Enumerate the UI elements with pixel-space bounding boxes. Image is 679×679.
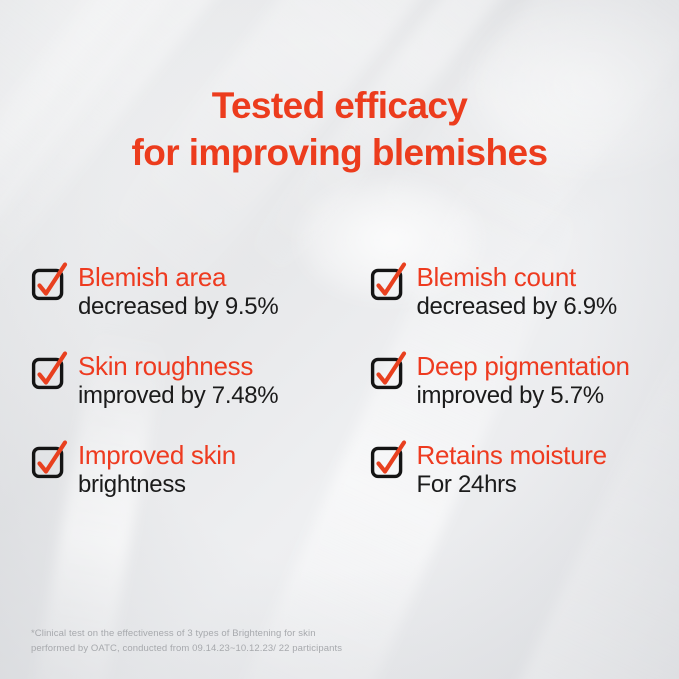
benefit-subtitle: For 24hrs: [417, 471, 517, 498]
benefits-row: Blemish area decreased by 9.5% Blemish c…: [0, 262, 679, 322]
checkmark-icon: [31, 356, 65, 390]
page-title-line-2: for improving blemishes: [0, 129, 679, 176]
benefit-item-skin-roughness: Skin roughness improved by 7.48%: [0, 351, 340, 411]
benefit-text: Skin roughness improved by 7.48%: [78, 351, 340, 411]
benefit-subtitle: improved by 7.48%: [78, 382, 278, 409]
benefit-subtitle: brightness: [78, 471, 186, 498]
benefit-item-blemish-count: Blemish count decreased by 6.9%: [340, 262, 679, 322]
benefit-text: Blemish count decreased by 6.9%: [417, 262, 679, 322]
efficacy-infographic: Tested efficacy for improving blemishes …: [0, 0, 679, 679]
clinical-test-footnote: *Clinical test on the effectiveness of 3…: [31, 626, 342, 656]
benefits-grid: Blemish area decreased by 9.5% Blemish c…: [0, 262, 679, 529]
checkmark-icon: [370, 445, 404, 479]
footnote-line-2: performed by OATC, conducted from 09.14.…: [31, 641, 342, 656]
benefit-title: Blemish count: [417, 262, 576, 292]
page-title: Tested efficacy for improving blemishes: [0, 82, 679, 176]
benefit-title: Improved skin: [78, 440, 236, 470]
benefit-title: Skin roughness: [78, 351, 253, 381]
benefit-text: Blemish area decreased by 9.5%: [78, 262, 340, 322]
benefits-row: Improved skin brightness Retains moistur…: [0, 440, 679, 500]
checkmark-icon: [31, 267, 65, 301]
benefits-row: Skin roughness improved by 7.48% Deep pi…: [0, 351, 679, 411]
footnote-line-1: *Clinical test on the effectiveness of 3…: [31, 626, 342, 641]
benefit-title: Retains moisture: [417, 440, 607, 470]
benefit-text: Retains moisture For 24hrs: [417, 440, 679, 500]
benefit-subtitle: decreased by 9.5%: [78, 293, 278, 320]
benefit-item-retains-moisture: Retains moisture For 24hrs: [340, 440, 679, 500]
checkmark-icon: [370, 356, 404, 390]
checkmark-icon: [370, 267, 404, 301]
benefit-text: Improved skin brightness: [78, 440, 340, 500]
benefit-subtitle: decreased by 6.9%: [417, 293, 617, 320]
benefit-title: Deep pigmentation: [417, 351, 630, 381]
benefit-text: Deep pigmentation improved by 5.7%: [417, 351, 679, 411]
checkmark-icon: [31, 445, 65, 479]
benefit-item-deep-pigmentation: Deep pigmentation improved by 5.7%: [340, 351, 679, 411]
benefit-item-improved-skin-brightness: Improved skin brightness: [0, 440, 340, 500]
page-title-line-1: Tested efficacy: [212, 85, 468, 126]
benefit-title: Blemish area: [78, 262, 226, 292]
benefit-item-blemish-area: Blemish area decreased by 9.5%: [0, 262, 340, 322]
benefit-subtitle: improved by 5.7%: [417, 382, 604, 409]
